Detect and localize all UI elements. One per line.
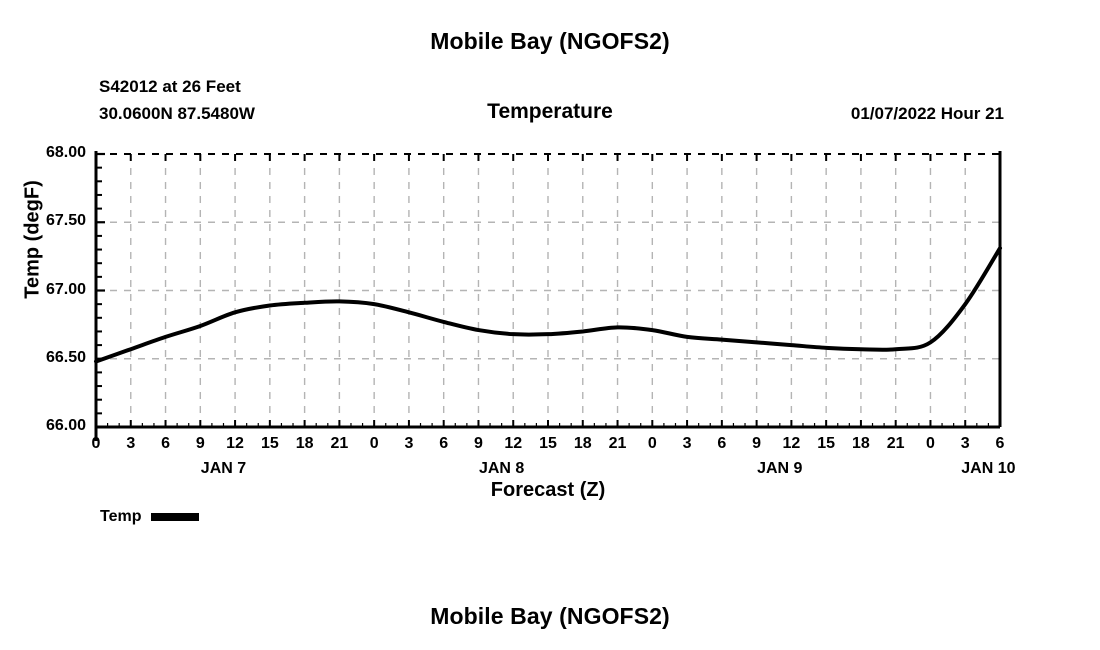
y-tick-label: 66.50 (16, 349, 86, 367)
x-tick-label: 9 (742, 435, 772, 453)
x-tick-label: 0 (81, 435, 111, 453)
x-tick-label: 6 (151, 435, 181, 453)
x-day-label: JAN 10 (928, 460, 1048, 478)
legend-swatch-temp (151, 513, 199, 521)
x-tick-label: 12 (498, 435, 528, 453)
y-tick-label: 68.00 (16, 144, 86, 162)
data-series (96, 248, 1000, 361)
x-tick-label: 15 (255, 435, 285, 453)
x-tick-label: 18 (568, 435, 598, 453)
x-day-label: JAN 7 (163, 460, 283, 478)
x-tick-label: 12 (220, 435, 250, 453)
y-tick-label: 66.00 (16, 417, 86, 435)
x-tick-label: 6 (707, 435, 737, 453)
x-tick-label: 6 (985, 435, 1015, 453)
x-day-label: JAN 8 (442, 460, 562, 478)
x-day-label: JAN 9 (720, 460, 840, 478)
x-tick-label: 18 (290, 435, 320, 453)
x-tick-label: 15 (533, 435, 563, 453)
x-tick-label: 9 (185, 435, 215, 453)
legend-label-temp: Temp (100, 508, 141, 526)
gridlines (96, 154, 1000, 427)
x-tick-label: 21 (603, 435, 633, 453)
series-line-temp (96, 248, 1000, 361)
y-tick-label: 67.00 (16, 281, 86, 299)
x-tick-label: 3 (950, 435, 980, 453)
x-tick-label: 21 (881, 435, 911, 453)
x-tick-label: 3 (116, 435, 146, 453)
x-tick-label: 0 (637, 435, 667, 453)
x-tick-label: 21 (324, 435, 354, 453)
plot-svg (0, 0, 1100, 650)
x-tick-label: 3 (394, 435, 424, 453)
x-axis-label: Forecast (Z) (96, 479, 1000, 502)
plot-area: Temp (degF) Forecast (Z) 66.0066.5067.00… (0, 0, 1100, 650)
legend: Temp (100, 508, 199, 526)
x-tick-label: 3 (672, 435, 702, 453)
page-title-bottom: Mobile Bay (NGOFS2) (0, 603, 1100, 630)
y-tick-label: 67.50 (16, 212, 86, 230)
x-tick-label: 0 (359, 435, 389, 453)
x-tick-label: 6 (429, 435, 459, 453)
x-tick-label: 0 (915, 435, 945, 453)
x-tick-label: 9 (463, 435, 493, 453)
x-tick-label: 12 (776, 435, 806, 453)
chart-page: Mobile Bay (NGOFS2) S42012 at 26 Feet 30… (0, 0, 1100, 650)
x-tick-label: 18 (846, 435, 876, 453)
x-tick-label: 15 (811, 435, 841, 453)
